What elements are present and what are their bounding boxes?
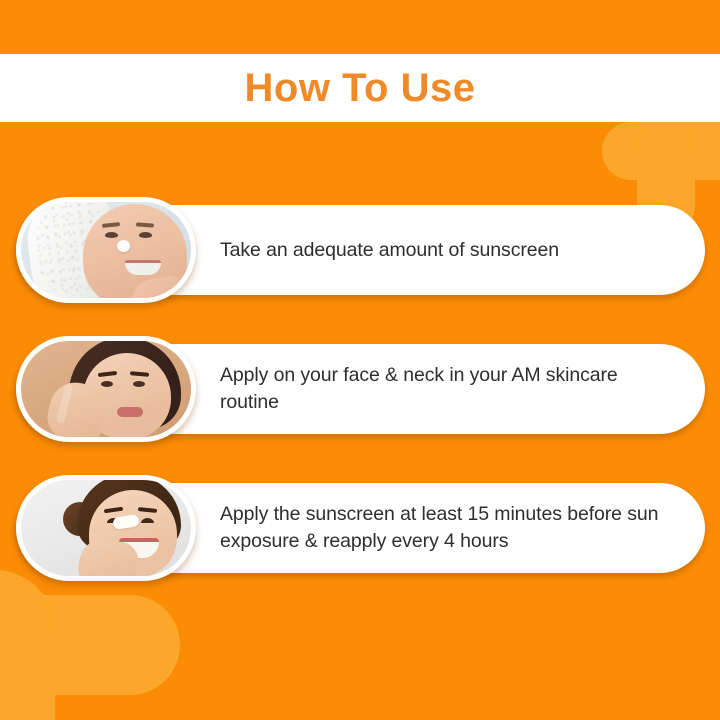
title-band: How To Use (0, 54, 720, 122)
list-item: Apply the sunscreen at least 15 minutes … (0, 483, 720, 573)
mouth-shape (125, 260, 161, 275)
page-title: How To Use (245, 68, 476, 108)
eye-right (139, 232, 152, 238)
eye-right (141, 518, 154, 523)
steps-list: Take an adequate amount of sunscreen App… (0, 205, 720, 622)
step-thumbnail-1 (16, 197, 196, 303)
eye-left (101, 381, 113, 387)
list-item: Apply on your face & neck in your AM ski… (0, 344, 720, 434)
top-right-plus-horizontal-icon (602, 122, 720, 180)
eye-left (105, 232, 118, 238)
step-thumbnail-3 (16, 475, 196, 581)
cream-dot (117, 240, 130, 252)
smiling-woman-image (21, 480, 191, 576)
step-thumbnail-2 (16, 336, 196, 442)
woman-touching-face-image (21, 341, 191, 437)
lips-shape (117, 407, 143, 417)
list-item: Take an adequate amount of sunscreen (0, 205, 720, 295)
eye-right (133, 381, 145, 387)
woman-with-towel-image (21, 202, 191, 298)
step-text-2: Apply on your face & neck in your AM ski… (220, 362, 679, 415)
step-text-3: Apply the sunscreen at least 15 minutes … (220, 501, 679, 554)
step-text-1: Take an adequate amount of sunscreen (220, 237, 559, 264)
